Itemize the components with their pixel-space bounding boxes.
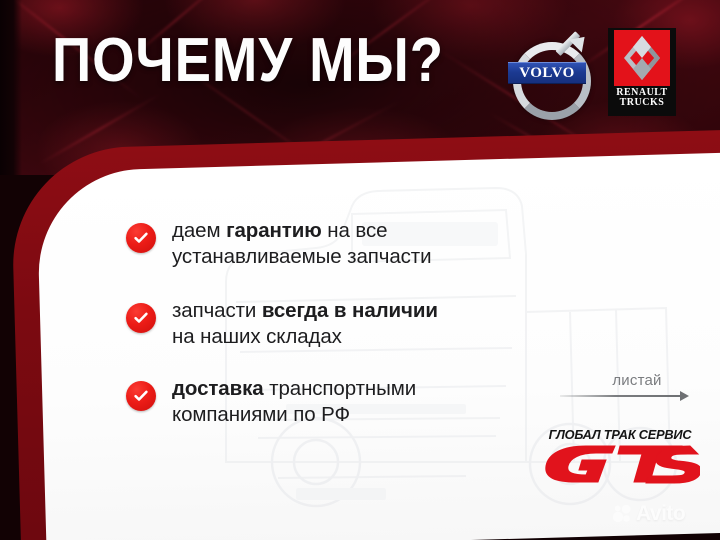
bullet-2-line-1: запчасти всегда в наличии: [172, 299, 438, 322]
list-item-text: доставка транспортными компаниями по РФ: [172, 376, 416, 428]
list-item: даем гарантию на все устанавливаемые зап…: [126, 218, 431, 270]
check-circle-icon: [126, 381, 156, 411]
arrow-right-icon: [560, 391, 700, 401]
gts-wordmark: [536, 440, 704, 486]
swipe-hint: листай: [560, 372, 700, 401]
list-item-text: даем гарантию на все устанавливаемые зап…: [172, 218, 431, 270]
list-item-text: запчасти всегда в наличии на наших склад…: [172, 298, 438, 350]
promo-slide: ПОЧЕМУ МЫ? VOLVO: [0, 0, 720, 540]
list-item: доставка транспортными компаниями по РФ: [126, 376, 416, 428]
avito-watermark: Avito: [612, 502, 685, 526]
bullet-1-line-1: даем гарантию на все: [172, 219, 387, 242]
gts-tagline: ГЛОБАЛ ТРАК СЕРВИС: [534, 428, 705, 442]
bullet-3-line-1: доставка транспортными: [172, 377, 416, 400]
bullet-2-line-2: на наших складах: [172, 325, 342, 348]
check-circle-icon: [126, 223, 156, 253]
panel-content: даем гарантию на все устанавливаемые зап…: [0, 0, 720, 540]
bullet-1-line-2: устанавливаемые запчасти: [172, 245, 431, 268]
gts-logo: ГЛОБАЛ ТРАК СЕРВИС: [536, 428, 704, 486]
avito-wordmark: Avito: [636, 502, 685, 526]
swipe-label: листай: [574, 372, 700, 389]
avito-dots-icon: [612, 504, 632, 524]
bullet-3-line-2: компаниями по РФ: [172, 403, 350, 426]
list-item: запчасти всегда в наличии на наших склад…: [126, 298, 438, 350]
check-circle-icon: [126, 303, 156, 333]
